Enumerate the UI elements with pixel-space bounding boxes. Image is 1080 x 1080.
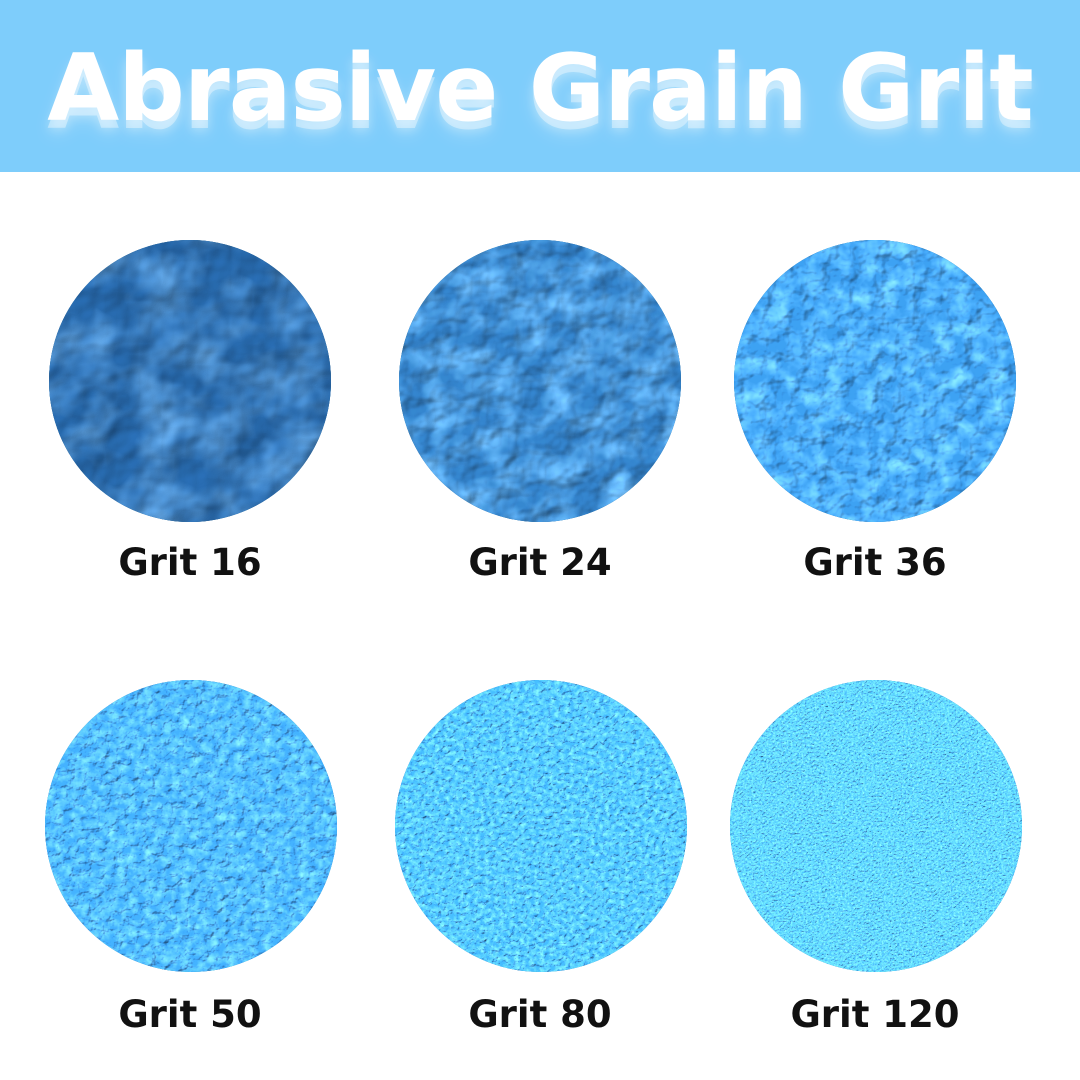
abrasive-disc-icon <box>49 240 331 522</box>
abrasive-disc-icon <box>399 240 681 522</box>
swatch-row-fine: Grit 50 Grit 80 Grit 120 <box>0 618 1080 1072</box>
swatch-grit-24[interactable]: Grit 24 <box>375 172 705 626</box>
swatch-grit-120[interactable]: Grit 120 <box>710 618 1040 1072</box>
swatch-row-coarse: Grit 16 Grit 24 Grit 36 <box>0 172 1080 626</box>
swatch-label: Grit 120 <box>710 996 1040 1033</box>
swatch-label: Grit 24 <box>375 544 705 581</box>
swatch-label: Grit 50 <box>25 996 355 1033</box>
swatch-grit-36[interactable]: Grit 36 <box>710 172 1040 626</box>
swatch-label: Grit 36 <box>710 544 1040 581</box>
swatch-label: Grit 80 <box>375 996 705 1033</box>
swatch-grid: Grit 16 Grit 24 Grit 36 <box>0 172 1080 1080</box>
swatch-grit-50[interactable]: Grit 50 <box>25 618 355 1072</box>
abrasive-disc-icon <box>730 680 1022 972</box>
page-title: Abrasive Grain Grit <box>0 2 1080 172</box>
swatch-grit-80[interactable]: Grit 80 <box>375 618 705 1072</box>
swatch-label: Grit 16 <box>25 544 355 581</box>
header-band: Abrasive Grain Grit <box>0 0 1080 172</box>
swatch-grit-16[interactable]: Grit 16 <box>25 172 355 626</box>
abrasive-disc-icon <box>45 680 337 972</box>
abrasive-disc-icon <box>734 240 1016 522</box>
abrasive-disc-icon <box>395 680 687 972</box>
